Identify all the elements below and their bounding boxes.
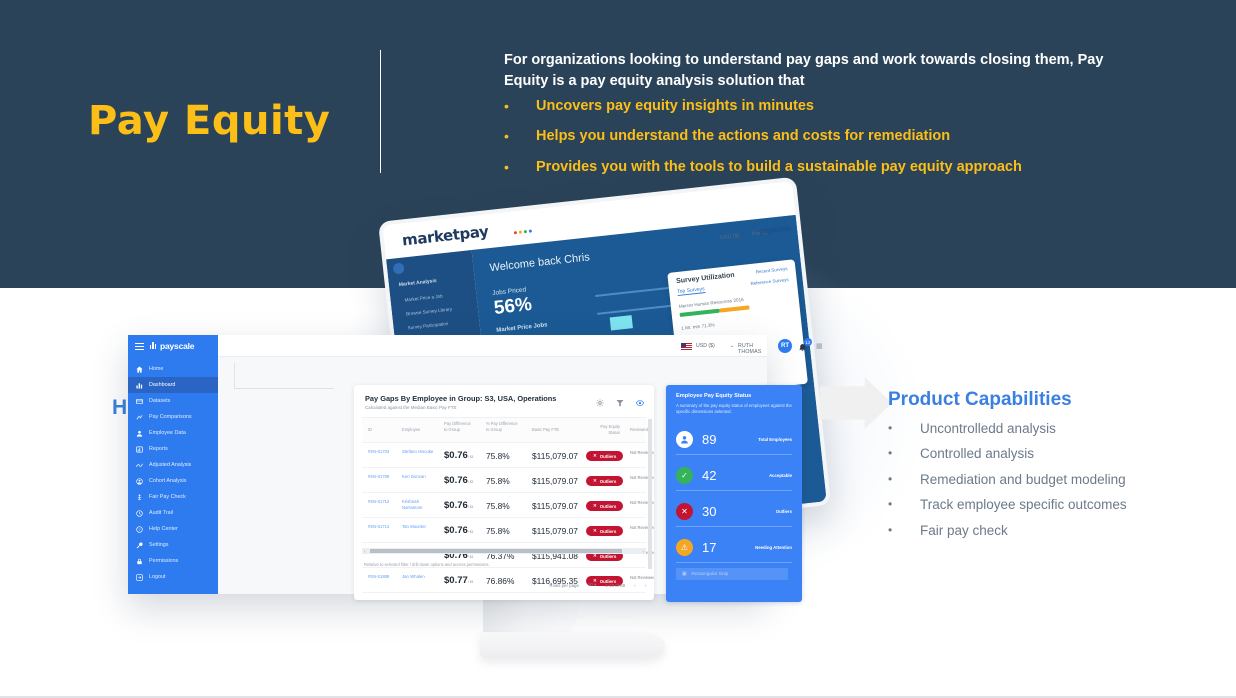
sidebar-item-reports[interactable]: Reports [128,441,218,457]
scrollbar-thumb[interactable] [648,419,652,569]
cell-employee[interactable]: Krishnah Narramore [402,499,438,511]
cell-employee[interactable]: Keri Duncan [402,474,438,480]
pay-gaps-table-card: Pay Gaps By Employee in Group: S3, USA, … [354,385,654,600]
scrollbar-thumb[interactable] [370,549,622,553]
home-icon [136,366,143,373]
chevron-down-icon[interactable]: ⌄ [730,343,734,349]
column-header-basic-pay: Basic Pay FTE [532,427,577,433]
bullet-marker: • [504,98,536,115]
bullet-marker: • [888,470,920,489]
cell-percent-difference: 76.86% [486,576,514,586]
marketpay-sidebar-item[interactable]: Browse Survey Library [406,307,452,317]
bullet-marker: • [888,444,920,463]
cell-id[interactable]: #SN-S1703 [368,449,394,455]
hero-bullet-label: Helps you understand the actions and cos… [536,128,950,145]
fair-pay-icon [136,494,143,501]
table-row[interactable]: #SN-S1712 Krishnah Narramore $0.76/ $1 7… [362,493,646,518]
sidebar-item-label: Datasets [149,398,170,404]
app-sidebar: payscale Home Dashboard Datasets Pay Com… [128,335,218,594]
clock-icon [136,510,143,517]
snip-label: Rectangular Snip [692,572,729,577]
cell-employee[interactable]: Jan Whalen [402,574,438,580]
app-header: USD ($) ⌄ RUTH THOMAS RT 12 ▦ [218,335,767,357]
marketpay-logo: marketpay [401,222,489,249]
sidebar-item-datasets[interactable]: Datasets [128,393,218,409]
list-item: • Helps you understand the actions and c… [504,128,1164,145]
datasets-icon [136,398,143,405]
cross-icon: ✕ [676,503,693,520]
cell-basic-pay: $115,079.07 [532,476,578,486]
sidebar-item-cohort-analysis[interactable]: Cohort Analysis [128,473,218,489]
status-label: Outliers [776,509,792,514]
cell-id[interactable]: #SN-S1889 [368,574,394,580]
sidebar-header: payscale [128,335,218,357]
warning-icon: ⚠ [676,539,693,556]
bullet-marker: • [888,521,920,540]
mini-bar-highlight [610,315,633,330]
survey-card-link[interactable]: Top Surveys [677,286,705,296]
prev-page-button[interactable]: ‹ [634,583,635,588]
status-label: Acceptable [769,473,792,478]
cohort-icon [136,478,143,485]
hero-bullet-label: Uncovers pay equity insights in minutes [536,98,814,115]
cross-icon: ✕ [593,453,597,459]
marketpay-sidebar-section: Market Analysis [399,278,437,288]
cross-icon: ✕ [593,528,597,534]
capability-label: Remediation and budget modeling [920,470,1126,491]
marketpay-sidebar-item[interactable]: Survey Participation [407,321,448,330]
table-toolbar [596,394,644,412]
employee-pay-equity-status-card: Employee Pay Equity Status A summary of … [666,385,802,602]
sidebar-item-dashboard[interactable]: Dashboard [128,377,218,393]
table-row[interactable]: #SN-S1889 Jan Whalen $0.77/ $1 76.86% $1… [362,568,646,593]
table-header-row: ID Employee Pay Difference to Group % Pa… [362,417,646,443]
vertical-scrollbar[interactable] [648,419,652,579]
capability-label: Uncontrolledd analysis [920,419,1056,440]
filter-icon[interactable] [616,394,624,412]
status-row-acceptable[interactable]: ✓ 42 Acceptable [676,461,792,491]
marketpay-currency-select[interactable]: USD ($) [720,233,740,241]
status-label: Total Employees [758,437,792,442]
status-badge[interactable]: ✕Outliers [586,501,623,511]
sidebar-item-home[interactable]: Home [128,361,218,377]
cross-icon: ✕ [593,478,597,484]
cell-id[interactable]: #SN-S1714 [368,524,394,530]
lock-icon [136,558,143,565]
payscale-bars-icon [150,341,156,349]
cell-id[interactable]: #SN-S1709 [368,474,394,480]
sidebar-item-adjusted-analysis[interactable]: Adjusted Analysis [128,457,218,473]
list-item: • Uncontrolledd analysis [888,419,1218,440]
sidebar-item-label: Employee Data [149,430,186,436]
cell-percent-difference: 75.8% [486,526,510,536]
sidebar-item-label: Permissions [149,558,178,564]
status-row-outliers[interactable]: ✕ 30 Outliers [676,497,792,527]
capability-label: Controlled analysis [920,444,1034,465]
cell-basic-pay: $115,079.07 [532,501,578,511]
rectangular-snip-button[interactable]: ▣ Rectangular Snip [676,568,788,580]
capability-label: Track employee specific outcomes [920,495,1127,516]
cell-employee[interactable]: Stefano Hiscoke [402,449,438,455]
survey-card-title: Survey Utilization [676,272,735,285]
list-item: • Track employee specific outcomes [888,495,1218,516]
rows-per-page-label: Rows per page [549,583,579,588]
marketpay-logo-dots [514,229,532,234]
apps-grid-icon[interactable]: ▦ [816,342,823,350]
sidebar-item-audit-trail[interactable]: Audit Trail [128,505,218,521]
monitor-stand-foot [480,632,665,658]
list-item: • Controlled analysis [888,444,1218,465]
svg-text:?: ? [138,527,141,532]
sidebar-item-label: Dashboard [149,382,175,388]
status-row-total-employees[interactable]: 89 Total Employees [676,425,792,455]
list-item: • Uncovers pay equity insights in minute… [504,98,1164,115]
sidebar-item-label: Cohort Analysis [149,478,186,484]
person-icon [676,431,693,448]
capabilities-list: • Uncontrolledd analysis • Controlled an… [888,419,1218,546]
scroll-right-arrow[interactable]: › [641,549,647,554]
wrench-icon [136,542,143,549]
sidebar-item-logout[interactable]: Logout [128,569,218,585]
bullet-marker: • [888,495,920,514]
app-brand: payscale [160,341,194,351]
pagination: Rows per page 10 ▾ 1-10 of 89 ‹ › [549,582,646,588]
slide-root: Pay Equity For organizations looking to … [0,0,1236,698]
check-icon: ✓ [676,467,693,484]
status-card-subtitle: A summary of the pay equity status of em… [676,403,794,415]
breadcrumb [234,363,334,389]
cell-pay-difference: $0.76/ $1 [444,450,474,461]
column-header-id: ID [368,427,390,433]
column-header-employee: Employee [402,427,434,433]
table-row[interactable]: #SN-S1703 Stefano Hiscoke $0.76/ $1 75.8… [362,443,646,468]
marketpay-sidebar-item[interactable]: Market Price a Job [404,293,443,302]
snip-icon: ▣ [682,572,687,577]
cell-percent-difference: 75.8% [486,451,510,461]
next-page-button[interactable]: › [645,583,646,588]
vertical-divider [380,50,381,173]
scroll-left-arrow[interactable]: ‹ [362,549,368,554]
cell-id[interactable]: #SN-S1712 [368,499,394,505]
bullet-marker: • [888,419,920,438]
cell-employee[interactable]: Tan Mounter [402,524,438,530]
sidebar-item-permissions[interactable]: Permissions [128,553,218,569]
marketpay-sidebar-badge [393,262,405,274]
gear-icon[interactable] [596,394,604,412]
survey-card-link-reference[interactable]: Reference Surveys [750,277,789,286]
hero-bullet-list: • Uncovers pay equity insights in minute… [504,98,1164,189]
table-footnote: Relative to selected filter / drill down… [364,562,490,567]
cross-icon: ✕ [593,503,597,509]
reports-icon [136,446,143,453]
cell-pay-difference: $0.76/ $1 [444,525,474,536]
bullet-marker: • [504,159,536,176]
sidebar-item-label: Audit Trail [149,510,173,516]
status-card-title: Employee Pay Equity Status [676,393,751,399]
capability-label: Fair pay check [920,521,1008,542]
status-badge[interactable]: ✕Outliers [586,451,623,461]
user-menu[interactable]: RUTH THOMAS [738,343,767,355]
market-price-label: Market Price Jobs [496,322,548,334]
horizontal-scrollbar[interactable]: ‹ › [362,548,646,554]
notification-badge: 12 [804,338,812,346]
table-subtitle: Calculated against the Median Basic Pay … [365,405,457,410]
page-title: Pay Equity [88,98,330,144]
compare-icon [136,414,143,421]
sidebar-item-settings[interactable]: Settings [128,537,218,553]
status-value: 17 [702,540,716,555]
list-item: • Provides you with the tools to build a… [504,159,1164,176]
page-title: Pay Gaps By Employee in Group: S3, USA, … [365,394,556,403]
capabilities-title: Product Capabilities [888,389,1072,411]
currency-select[interactable]: USD ($) [696,343,715,349]
sidebar-item-help-center[interactable]: ? Help Center [128,521,218,537]
marketpay-welcome: Welcome back Chris [489,251,590,274]
trend-icon [136,462,143,469]
status-row-needing-attention[interactable]: ⚠ 17 Needing Attention [676,533,792,563]
sidebar-item-label: Adjusted Analysis [149,462,191,468]
sidebar-item-fair-pay-check[interactable]: Fair Pay Check [128,489,218,505]
cell-pay-difference: $0.77/ $1 [444,575,474,586]
survey-card-bar [719,305,749,312]
avatar[interactable]: RT [778,339,792,353]
visibility-icon[interactable] [636,394,644,412]
help-icon: ? [136,526,143,533]
hero-bullet-label: Provides you with the tools to build a s… [536,159,1022,176]
payscale-logo: payscale [759,223,791,235]
status-value: 89 [702,432,716,447]
stray-letter: H [112,396,127,420]
cell-basic-pay: $115,079.07 [532,526,578,536]
rows-per-page-select[interactable]: 10 ▾ [588,582,596,588]
payscale-app-window: payscale Home Dashboard Datasets Pay Com… [128,335,767,594]
status-value: 42 [702,468,716,483]
sidebar-item-pay-comparisons[interactable]: Pay Comparisons [128,409,218,425]
hero-description: For organizations looking to understand … [504,50,1134,91]
sidebar-item-label: Pay Comparisons [149,414,192,420]
column-header-status: Pay Equity Status [590,424,620,435]
jobs-priced-value: 56% [493,294,533,320]
status-label: Needing Attention [755,545,792,550]
cell-pay-difference: $0.76/ $1 [444,500,474,511]
sidebar-item-label: Fair Pay Check [149,494,186,500]
us-flag-icon [681,343,692,350]
sidebar-item-label: Logout [149,574,166,580]
cell-percent-difference: 75.8% [486,501,510,511]
list-item: • Fair pay check [888,521,1218,542]
sidebar-item-label: Settings [149,542,168,548]
status-badge[interactable]: ✕Outliers [586,526,623,536]
list-item: • Remediation and budget modeling [888,470,1218,491]
pagination-range: 1-10 of 89 [605,583,625,588]
status-value: 30 [702,504,716,519]
sidebar-item-label: Reports [149,446,168,452]
cell-percent-difference: 75.8% [486,476,510,486]
dashboard-icon [136,382,143,389]
app-content: Pay Gaps By Employee in Group: S3, USA, … [218,357,767,594]
status-badge[interactable]: ✕Outliers [586,476,623,486]
bullet-marker: • [504,128,536,145]
table-row[interactable]: #SN-S1714 Tan Mounter $0.76/ $1 75.8% $1… [362,518,646,543]
survey-card-bar [680,309,720,317]
survey-card-row: 1 Mr. mm 71.3% [681,314,793,331]
person-icon [136,430,143,437]
cell-basic-pay: $115,079.07 [532,451,578,461]
logout-icon [136,574,143,581]
sidebar-item-employee-data[interactable]: Employee Data [128,425,218,441]
survey-card-link-recent[interactable]: Recent Surveys [756,266,788,274]
hamburger-icon[interactable] [135,343,144,352]
column-header-pay-diff: Pay Difference to Group [444,421,474,432]
table-row[interactable]: #SN-S1709 Keri Duncan $0.76/ $1 75.8% $1… [362,468,646,493]
sidebar-item-label: Help Center [149,526,178,532]
sidebar-item-label: Home [149,366,163,372]
cell-pay-difference: $0.76/ $1 [444,475,474,486]
column-header-pct-diff: % Pay Difference to Group [486,421,518,432]
